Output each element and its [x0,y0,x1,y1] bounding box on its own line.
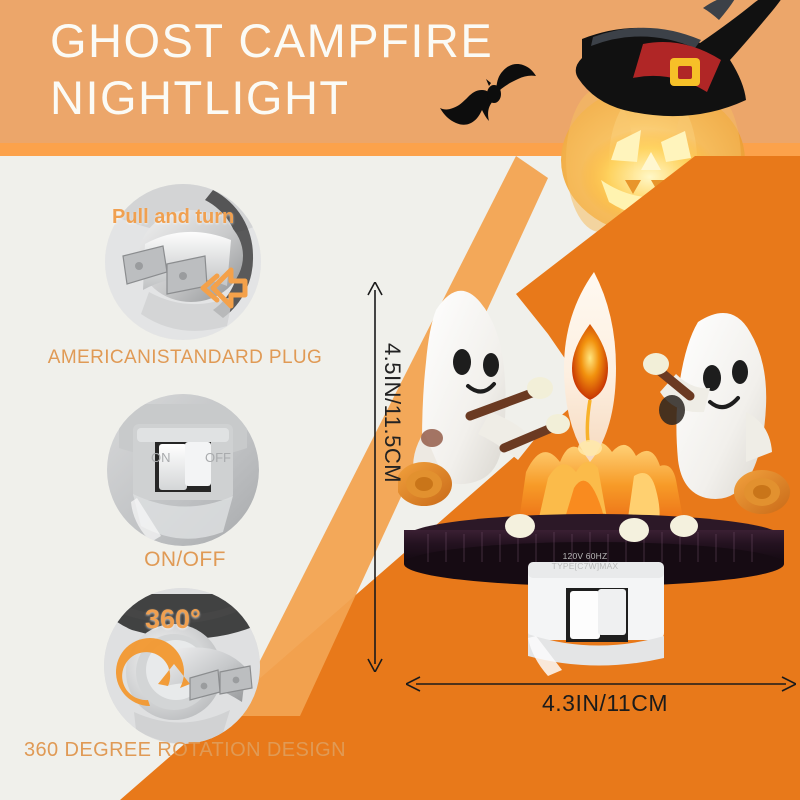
on-off-switch-photo: ON OFF [107,394,259,546]
flame-bulb [564,272,616,462]
product-infographic: GHOST CAMPFIRE NIGHTLIGHT [0,0,800,800]
feature-badge-pull-and-turn: Pull and turn [112,206,234,229]
product-photo-ghost-campfire-nightlight [398,262,798,682]
plug-body [528,562,664,676]
dimension-label-width: 4.3IN/11CM [455,690,755,717]
plug-rating-label: 120V 60HZ TYPE[C7W]MAX [535,551,635,571]
plug-rating-line1: 120V 60HZ [535,551,635,561]
dimension-label-height: 4.5IN/11.5CM [379,343,405,483]
feature-badge-360: 360° [145,604,201,635]
feature-caption-on-off: ON/OFF [5,548,365,572]
feature-caption-american-standard-plug: AMERICANISTANDARD PLUG [5,347,365,369]
plug-rating-line2: TYPE[C7W]MAX [535,561,635,571]
feature-caption-360-rotation: 360 DEGREE ROTATION DESIGN [5,739,365,762]
switch-off-label: OFF [205,450,231,465]
feature-image-on-off-switch: ON OFF [107,394,259,546]
switch-on-label: ON [151,450,171,465]
